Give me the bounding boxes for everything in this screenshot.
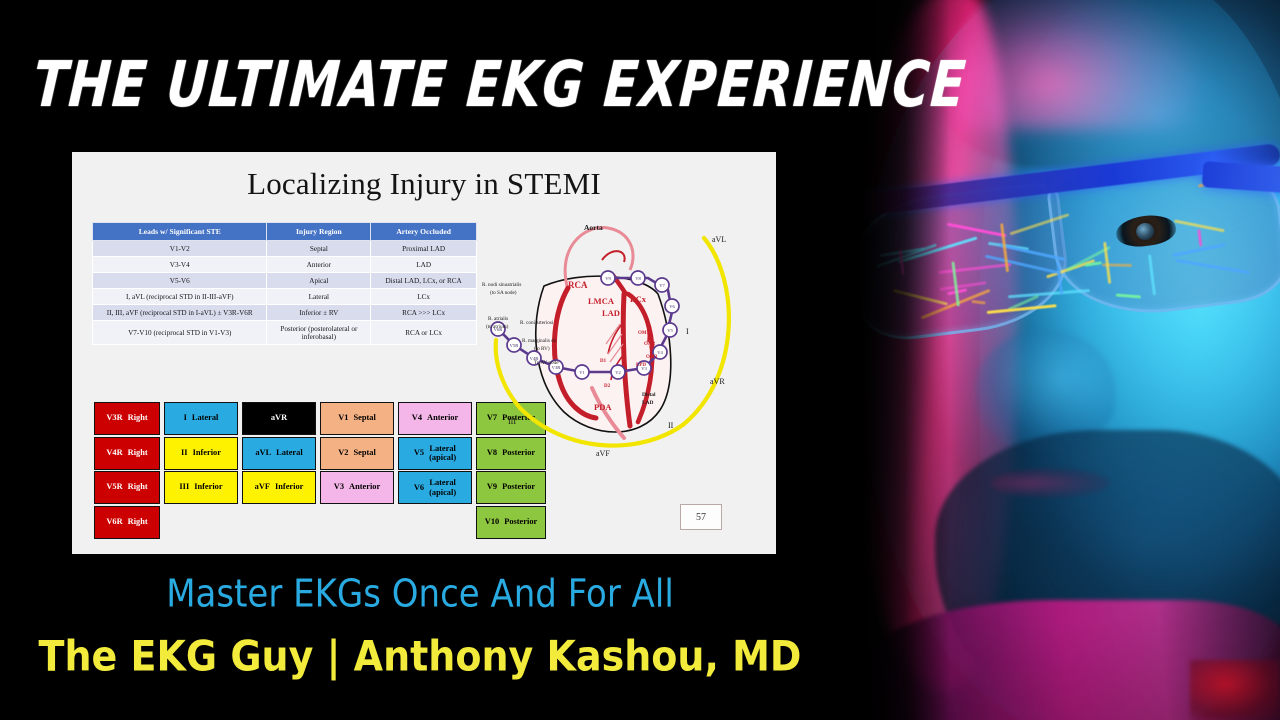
lead-cell-v4: V4Anterior (398, 402, 472, 435)
coronary-artery-diagram: V6RV5RV4R V3RV1V2 V3V4V5 V6V7V8V9 Aorta … (472, 212, 762, 467)
lead-column-limb-leads: ILateralIIInferiorIIIInferior (164, 402, 238, 506)
ekg-trace-spike (1056, 260, 1063, 295)
lead-region: Lateral (192, 414, 219, 423)
svg-text:RCA: RCA (568, 280, 588, 290)
svg-text:aVR: aVR (710, 377, 725, 386)
lead-region: Inferior (194, 483, 222, 492)
ekg-trace-segment (999, 244, 1065, 261)
svg-text:I: I (686, 327, 689, 336)
lead-cell-v4r: V4RRight (94, 437, 160, 470)
slide-title: Localizing Injury in STEMI (72, 166, 776, 202)
lead-cell-v10: V10Posterior (476, 506, 546, 539)
ekg-trace-spike (1148, 254, 1156, 295)
svg-text:V5R: V5R (510, 343, 520, 348)
svg-text:R. atrialis: R. atrialis (488, 316, 508, 322)
heart-diagram-svg: V6RV5RV4R V3RV1V2 V3V4V5 V6V7V8V9 Aorta … (472, 212, 762, 467)
lead-cell-v5: V5Lateral(apical) (398, 437, 472, 470)
ekg-trace-segment (971, 300, 986, 305)
svg-text:aVL: aVL (712, 235, 726, 244)
svg-text:(to atrium): (to atrium) (486, 323, 509, 330)
table-cell: II, III, aVF (reciprocal STD in I-aVL) ±… (93, 305, 267, 321)
svg-text:LMCA: LMCA (588, 296, 615, 306)
lead-cell-avf: aVFInferior (242, 471, 316, 504)
table-cell: Inferior ± RV (267, 305, 371, 321)
svg-text:OM1: OM1 (638, 331, 650, 336)
lead-region: Lateral (276, 449, 303, 458)
ekg-trace-segment (1115, 293, 1140, 298)
svg-text:OM2: OM2 (644, 342, 656, 347)
col-header-region: Injury Region (267, 223, 371, 241)
lead-cell-avl: aVLLateral (242, 437, 316, 470)
svg-text:LAD: LAD (602, 308, 620, 318)
ekg-trace-segment (1175, 259, 1250, 274)
table-cell: LAD (371, 257, 477, 273)
stemi-localization-table: Leads w/ Significant STE Injury Region A… (92, 222, 477, 345)
table-cell: Lateral (267, 289, 371, 305)
col-header-artery: Artery Occluded (371, 223, 477, 241)
lead-region: Posterior (504, 518, 537, 527)
lead-name: aVL (255, 449, 271, 458)
lead-cell-v3: V3Anterior (320, 471, 394, 504)
table-cell: Proximal LAD (371, 241, 477, 257)
lead-cell-iii: IIIInferior (164, 471, 238, 504)
table-cell: Septal (267, 241, 371, 257)
ekg-trace-segment (1008, 289, 1090, 298)
svg-text:V1: V1 (579, 370, 585, 375)
table-cell: V1-V2 (93, 241, 267, 257)
lead-cell-v6r: V6RRight (94, 506, 160, 539)
lead-column-precordial-v1-v3: V1SeptalV2SeptalV3Anterior (320, 402, 394, 506)
table-row: V1-V2SeptalProximal LAD (93, 241, 477, 257)
svg-text:V9: V9 (605, 276, 611, 281)
lead-column-augmented-leads: aVRaVLLateralaVFInferior (242, 402, 316, 506)
lead-name: V5R (106, 483, 122, 492)
lead-cell-avr: aVR (242, 402, 316, 435)
lead-region-grid: V3RRightV4RRightV5RRightV6RRightILateral… (94, 402, 514, 540)
svg-text:(to RV): (to RV) (534, 345, 550, 352)
table-row: II, III, aVF (reciprocal STD in I-aVL) ±… (93, 305, 477, 321)
lead-name: V3 (334, 483, 344, 492)
table-cell: RCA or LCx (371, 321, 477, 345)
lead-name: aVF (255, 483, 270, 492)
svg-text:V5: V5 (667, 328, 673, 333)
table-cell: Distal LAD, LCx, or RCA (371, 273, 477, 289)
hero-title: THE ULTIMATE EKG EXPERIENCE (31, 48, 826, 121)
table-cell: I, aVL (reciprocal STD in II-III-aVF) (93, 289, 267, 305)
table-row: I, aVL (reciprocal STD in II-III-aVF)Lat… (93, 289, 477, 305)
lead-name: V9 (487, 483, 497, 492)
ekg-trace-segment (1010, 213, 1070, 235)
lead-region: Septal (353, 449, 375, 458)
frontal-arc-right (684, 238, 729, 424)
svg-text:R. coni arteriosi: R. coni arteriosi (520, 320, 554, 326)
svg-text:V4: V4 (657, 350, 663, 355)
lead-region: Lateral(apical) (429, 478, 456, 497)
screenshot-root: THE ULTIMATE EKG EXPERIENCE Localizing I… (0, 0, 1280, 720)
lead-cell-v3r: V3RRight (94, 402, 160, 435)
svg-text:III: III (508, 417, 516, 426)
lead-cell-v1: V1Septal (320, 402, 394, 435)
lead-cell-v5r: V5RRight (94, 471, 160, 504)
svg-text:D2: D2 (604, 384, 611, 389)
table-cell: V7-V10 (reciprocal STD in V1-V3) (93, 321, 267, 345)
lead-cell-v6: V6Lateral(apical) (398, 471, 472, 504)
svg-text:LAD: LAD (642, 400, 653, 406)
svg-text:To AV node: To AV node (534, 360, 559, 366)
svg-text:V6: V6 (669, 304, 675, 309)
table-row: V7-V10 (reciprocal STD in V1-V3)Posterio… (93, 321, 477, 345)
lead-name: V6R (106, 518, 122, 527)
col-header-leads: Leads w/ Significant STE (93, 223, 267, 241)
lead-name: V5 (414, 448, 424, 457)
ekg-trace-segment (947, 223, 1006, 238)
svg-text:D1: D1 (600, 359, 607, 364)
lead-region: Posterior (502, 483, 535, 492)
lead-name: III (179, 483, 189, 492)
table-row: V5-V6ApicalDistal LAD, LCx, or RCA (93, 273, 477, 289)
lead-column-right-leads: V3RRightV4RRightV5RRightV6RRight (94, 402, 160, 540)
lead-name: aVR (271, 414, 287, 423)
hero-subtitle: Master EKGs Once And For All (0, 572, 840, 617)
svg-text:PDA: PDA (594, 402, 612, 412)
lead-region: Right (128, 414, 148, 423)
slide-page-number: 57 (680, 504, 722, 530)
svg-text:R. marginalis dx: R. marginalis dx (522, 338, 557, 344)
table-header-row: Leads w/ Significant STE Injury Region A… (93, 223, 477, 241)
lead-region: Right (128, 518, 148, 527)
lead-name: V6 (414, 483, 424, 492)
lead-cell-i: ILateral (164, 402, 238, 435)
lead-region: Anterior (349, 483, 380, 492)
table-cell: V5-V6 (93, 273, 267, 289)
table-cell: RCA >>> LCx (371, 305, 477, 321)
svg-text:R. nodi sinuatrialis: R. nodi sinuatrialis (482, 282, 521, 288)
svg-text:II: II (668, 421, 674, 430)
lead-cell-ii: IIInferior (164, 437, 238, 470)
lead-region: Septal (353, 414, 375, 423)
lead-region: Anterior (427, 414, 458, 423)
table-cell: LCx (371, 289, 477, 305)
ekg-trace-segment (987, 304, 1057, 314)
slide-image: Localizing Injury in STEMI Leads w/ Sign… (72, 152, 776, 554)
lead-name: V10 (485, 518, 499, 527)
table-cell: V3-V4 (93, 257, 267, 273)
lead-region: Right (128, 449, 148, 458)
presenter-collar (1190, 660, 1280, 720)
ekg-trace-spike (1197, 229, 1202, 246)
lead-name: V4 (412, 414, 422, 423)
svg-text:aVF: aVF (596, 449, 610, 458)
svg-text:V2: V2 (615, 370, 621, 375)
aorta-arch (602, 251, 625, 262)
svg-text:(to SA node): (to SA node) (490, 289, 517, 296)
lead-name: I (184, 414, 187, 423)
svg-text:Aorta: Aorta (584, 223, 603, 232)
lead-cell-v9: V9Posterior (476, 471, 546, 504)
svg-text:V8: V8 (635, 276, 641, 281)
svg-text:V7: V7 (659, 283, 665, 288)
table-cell: Anterior (267, 257, 371, 273)
svg-text:LPD: LPD (636, 363, 646, 368)
lead-cell-v2: V2Septal (320, 437, 394, 470)
svg-text:OM3: OM3 (646, 355, 658, 360)
lead-name: II (181, 449, 188, 458)
svg-text:LCx: LCx (630, 294, 647, 304)
lead-region: Right (128, 483, 148, 492)
lead-region: Lateral(apical) (429, 444, 456, 463)
lead-name: V2 (338, 449, 348, 458)
lead-name: V1 (338, 414, 348, 423)
lead-name: V4R (106, 449, 122, 458)
hero-byline: The EKG Guy | Anthony Kashou, MD (0, 632, 840, 680)
lead-column-precordial-v4-v6: V4AnteriorV5Lateral(apical)V6Lateral(api… (398, 402, 472, 506)
table-cell: Apical (267, 273, 371, 289)
table-cell: Posterior (posterolateral or inferobasal… (267, 321, 371, 345)
lead-name: V3R (106, 414, 122, 423)
lead-region: Inferior (275, 483, 303, 492)
lead-region: Inferior (193, 449, 221, 458)
table-row: V3-V4AnteriorLAD (93, 257, 477, 273)
svg-text:Distal: Distal (642, 392, 656, 398)
